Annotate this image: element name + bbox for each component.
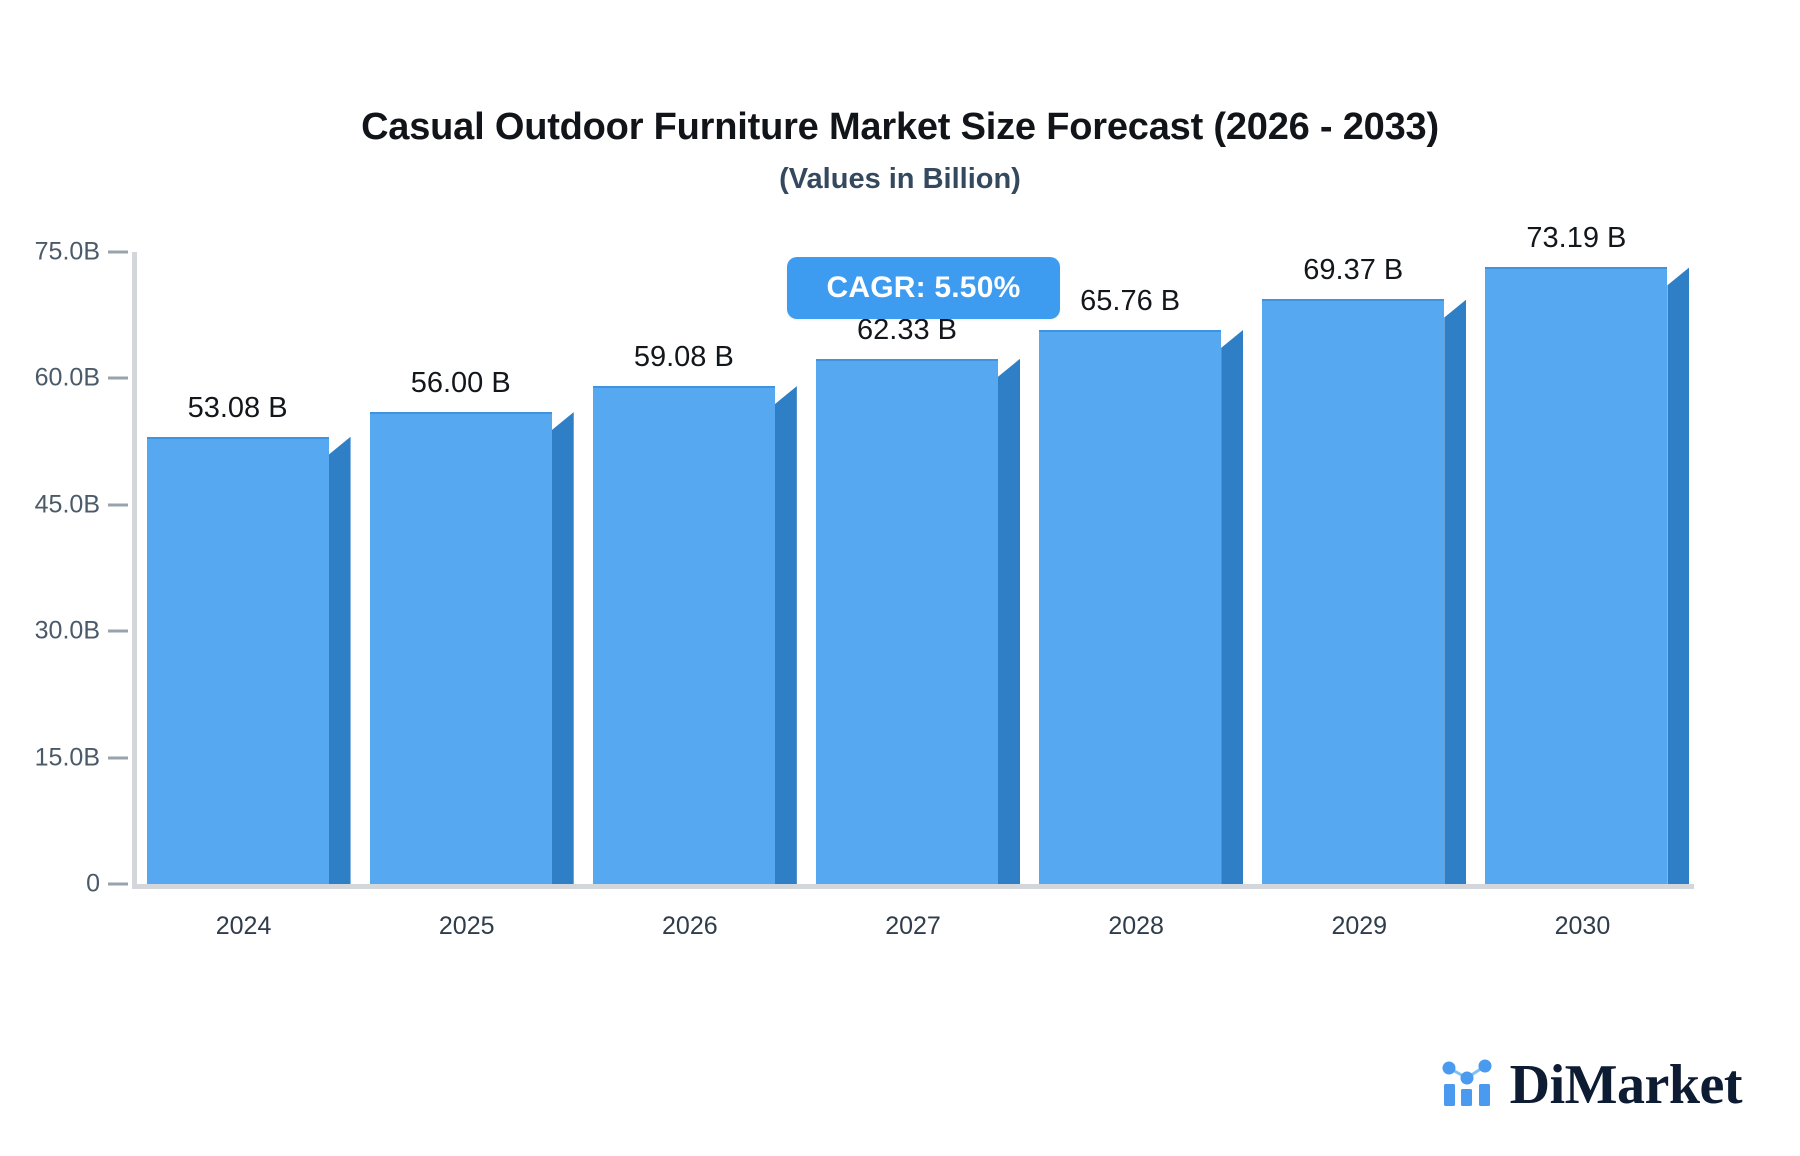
brand-name: DiMarket [1510,1057,1742,1113]
bar-2030[interactable]: 73.19 B [1485,267,1667,884]
x-axis-tick-label: 2029 [1331,912,1387,941]
x-axis-tick-label: 2028 [1108,912,1164,941]
bar-front-face [147,437,329,884]
bar-value-label: 53.08 B [188,392,288,425]
bar-2029[interactable]: 69.37 B [1262,299,1444,884]
y-axis-line [132,252,137,886]
bar-side-face [1667,267,1689,884]
bar-side-face [1444,299,1466,884]
bar-2026[interactable]: 59.08 B [593,386,775,884]
x-axis-tick-label: 2030 [1555,912,1611,941]
brand-logo: DiMarket [1438,1053,1742,1116]
x-axis-tick-label: 2026 [662,912,718,941]
bar-value-label: 59.08 B [634,341,734,374]
x-axis-line [132,884,1694,889]
bar-value-label: 65.76 B [1080,285,1180,318]
x-axis-tick-label: 2025 [439,912,495,941]
bar-side-face [552,412,574,884]
bar-value-label: 69.37 B [1303,254,1403,287]
bar-side-face [1221,330,1243,884]
bar-side-face [329,437,351,884]
bar-value-label: 73.19 B [1526,222,1626,255]
bar-side-face [998,359,1020,884]
bar-2025[interactable]: 56.00 B [370,412,552,884]
bar-front-face [1262,299,1444,884]
bar-front-face [1039,330,1221,884]
bar-front-face [370,412,552,884]
bar-chart-icon [1438,1053,1496,1116]
bar-front-face [1485,267,1667,884]
bar-value-label: 56.00 B [411,367,511,400]
x-axis-tick-label: 2024 [216,912,272,941]
x-axis-tick-label: 2027 [885,912,941,941]
bar-front-face [816,359,998,884]
bar-2027[interactable]: 62.33 B [816,359,998,884]
bar-front-face [593,386,775,884]
bar-2024[interactable]: 53.08 B [147,437,329,884]
plot-area: 53.08 B56.00 B59.08 B62.33 B65.76 B69.37… [132,252,1694,884]
bar-2028[interactable]: 65.76 B [1039,330,1221,884]
cagr-badge: CAGR: 5.50% [787,257,1060,319]
bar-side-face [775,386,797,884]
